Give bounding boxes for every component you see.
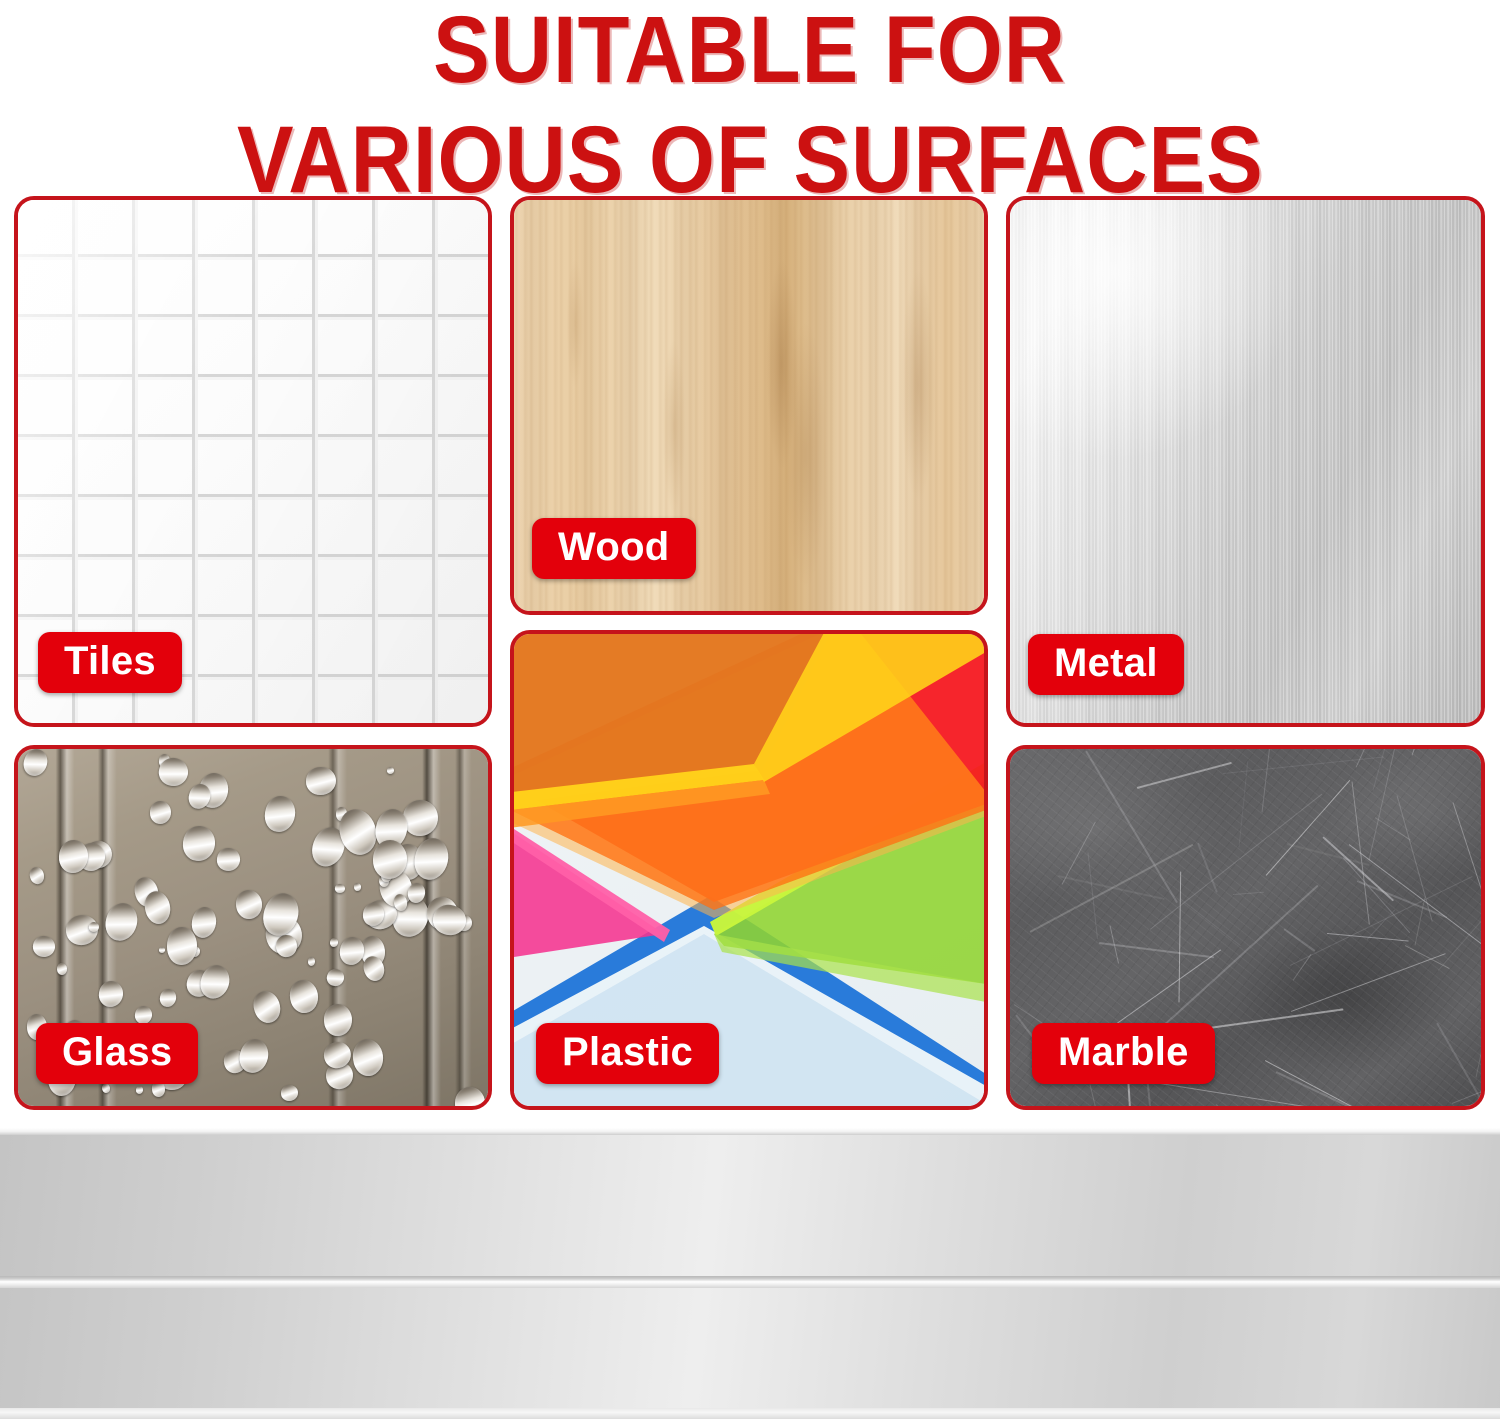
surface-label-tiles: Tiles	[38, 632, 182, 693]
surface-card-tiles: Tiles	[14, 196, 492, 727]
surface-card-wood: Wood	[510, 196, 988, 615]
surface-card-metal: Metal	[1006, 196, 1485, 727]
surface-card-glass: Glass	[14, 745, 492, 1110]
surface-card-plastic: Plastic	[510, 630, 988, 1110]
title-line-1: SUITABLE FOR	[434, 5, 1067, 95]
bottom-band-groove	[0, 1276, 1500, 1288]
surface-card-marble: Marble	[1006, 745, 1485, 1110]
surface-label-marble: Marble	[1032, 1023, 1215, 1084]
page-title: SUITABLE FOR VARIOUS OF SURFACES	[0, 0, 1500, 180]
surface-label-wood: Wood	[532, 518, 696, 579]
surface-label-plastic: Plastic	[536, 1023, 719, 1084]
bottom-band-bottom-edge	[0, 1408, 1500, 1419]
title-line-2: VARIOUS OF SURFACES	[237, 115, 1264, 205]
surface-label-metal: Metal	[1028, 634, 1184, 695]
water-droplet	[373, 839, 408, 878]
surface-label-glass: Glass	[36, 1023, 198, 1084]
